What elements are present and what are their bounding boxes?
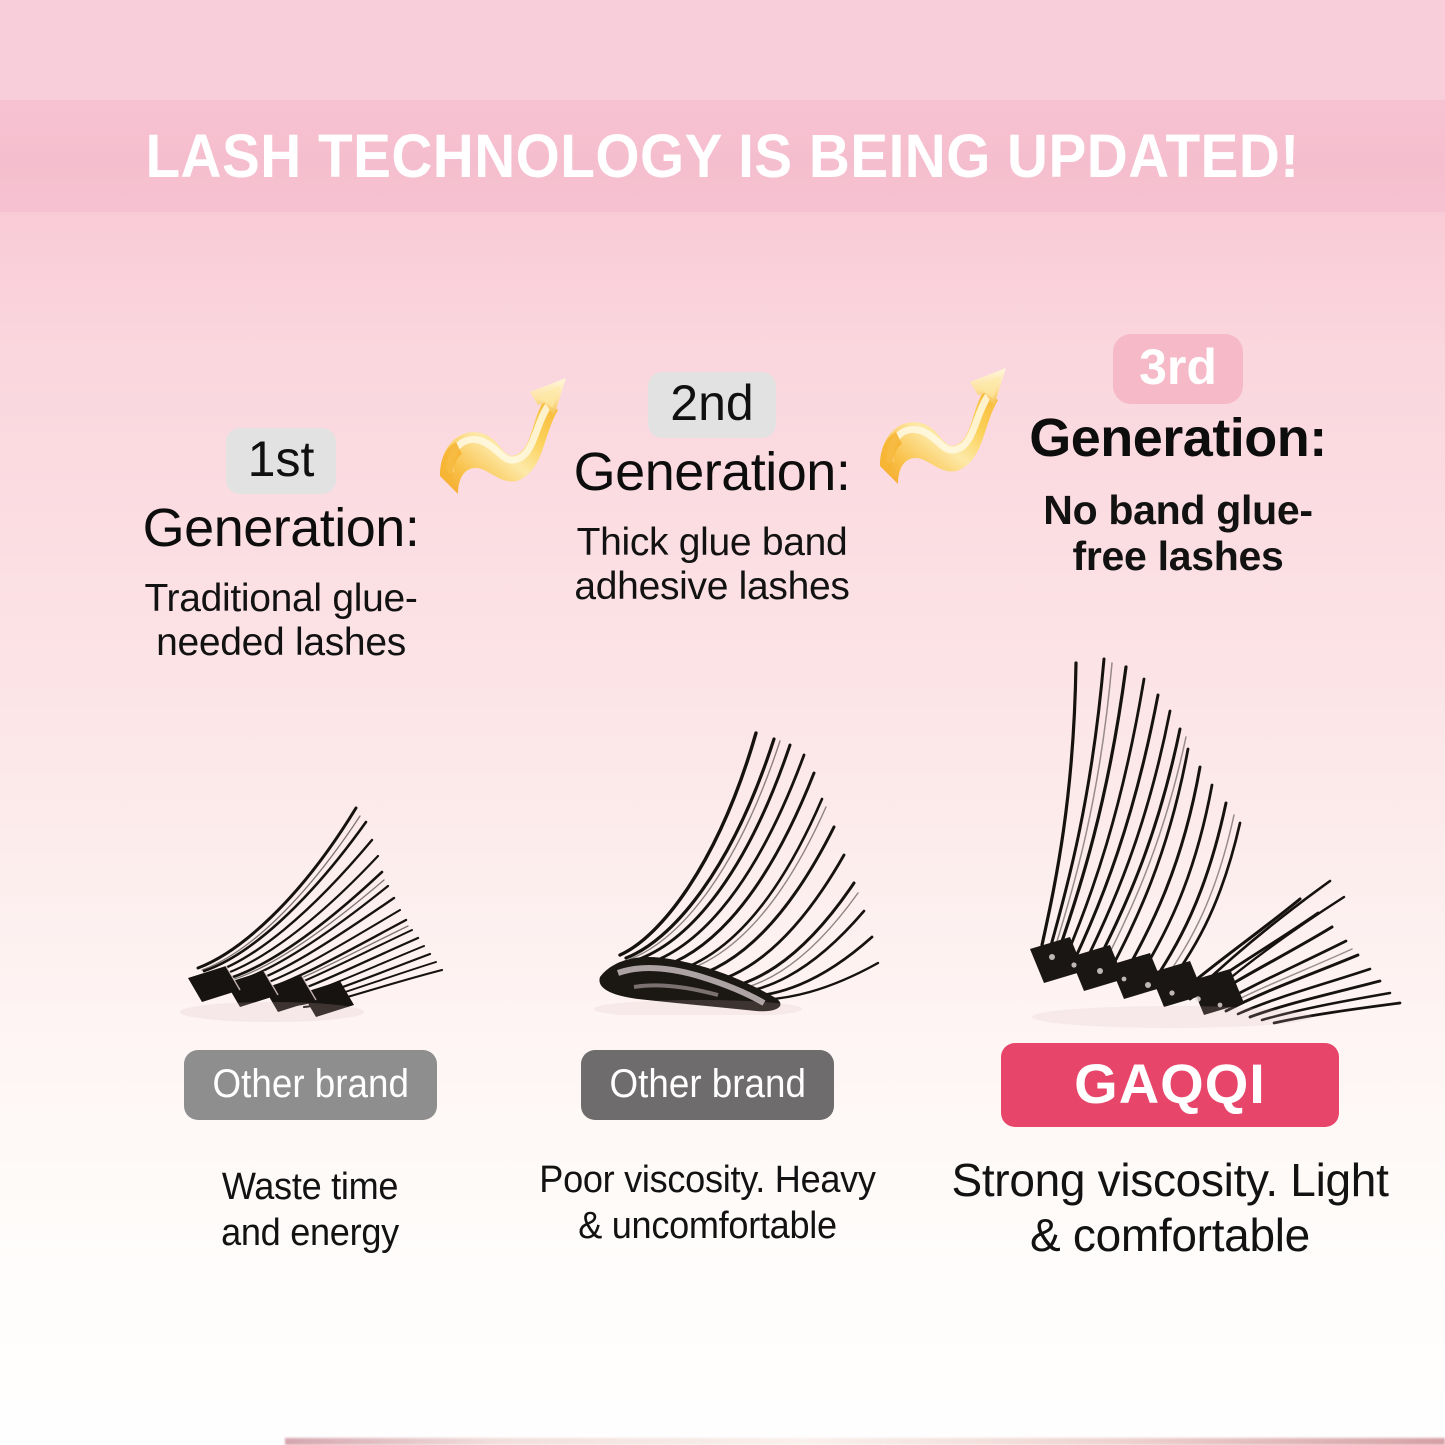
generation-subtitle-2-line-1: Thick glue band	[527, 521, 897, 565]
gold-arrow-up-right-icon-2	[872, 348, 1012, 498]
brand-pill-gaqqi: GAQQI	[1001, 1043, 1339, 1127]
brand-pill-other-2: Other brand	[581, 1050, 834, 1120]
generation-subtitle-3-line-1: No band glue-	[968, 487, 1388, 533]
lash-cluster-image-3	[1012, 645, 1412, 1030]
generation-column-1: 1st Generation: Traditional glue- needed…	[96, 428, 466, 665]
next-section-edge-sliver	[285, 1438, 1445, 1445]
generation-badge-3: 3rd	[1113, 334, 1243, 404]
benefit-caption-1-line-1: Waste time	[149, 1165, 472, 1211]
header-banner: LASH TECHNOLOGY IS BEING UPDATED!	[0, 100, 1445, 212]
generation-heading-1: Generation:	[96, 500, 466, 557]
benefit-caption-3: Strong viscosity. Light & comfortable	[930, 1153, 1410, 1263]
benefit-caption-2-line-1: Poor viscosity. Heavy	[529, 1158, 885, 1204]
generation-column-2: 2nd Generation: Thick glue band adhesive…	[527, 372, 897, 609]
brand-pill-label-2: Other brand	[609, 1064, 805, 1107]
generation-subtitle-1-line-1: Traditional glue-	[96, 577, 466, 621]
generation-column-3: 3rd Generation: No band glue- free lashe…	[968, 334, 1388, 579]
brand-pill-other-1: Other brand	[184, 1050, 437, 1120]
generation-badge-2: 2nd	[648, 372, 775, 438]
brand-pill-label-3: GAQQI	[1074, 1056, 1266, 1115]
generation-heading-2: Generation:	[527, 444, 897, 501]
benefit-caption-3-line-1: Strong viscosity. Light	[930, 1153, 1410, 1208]
lash-cluster-image-2	[578, 715, 888, 1015]
generation-subtitle-1-line-2: needed lashes	[96, 621, 466, 665]
benefit-caption-2-line-2: & uncomfortable	[529, 1204, 885, 1250]
brand-pill-label-1: Other brand	[212, 1064, 408, 1107]
product-comparison-poster: LASH TECHNOLOGY IS BEING UPDATED! 1st Ge…	[0, 0, 1445, 1445]
benefit-caption-3-line-2: & comfortable	[930, 1208, 1410, 1263]
gold-arrow-up-right-icon-1	[432, 358, 572, 508]
generation-subtitle-1: Traditional glue- needed lashes	[96, 577, 466, 665]
banner-title: LASH TECHNOLOGY IS BEING UPDATED!	[145, 126, 1299, 187]
generation-subtitle-2: Thick glue band adhesive lashes	[527, 521, 897, 609]
generation-badge-1: 1st	[226, 428, 337, 494]
generation-subtitle-3: No band glue- free lashes	[968, 487, 1388, 580]
generation-heading-3: Generation:	[968, 410, 1388, 467]
generation-subtitle-2-line-2: adhesive lashes	[527, 565, 897, 609]
generation-subtitle-3-line-2: free lashes	[968, 533, 1388, 579]
benefit-caption-1: Waste time and energy	[149, 1165, 472, 1256]
benefit-caption-2: Poor viscosity. Heavy & uncomfortable	[529, 1158, 885, 1249]
benefit-caption-1-line-2: and energy	[149, 1211, 472, 1257]
lash-cluster-image-1	[160, 740, 460, 1025]
